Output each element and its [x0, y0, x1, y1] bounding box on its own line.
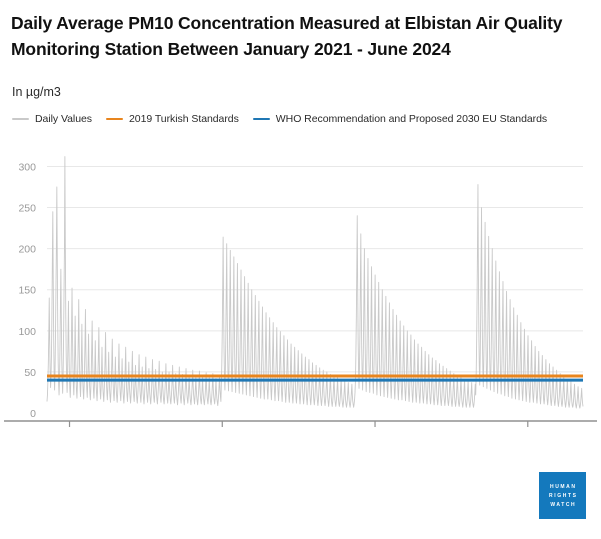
y-axis-tick-label: 150	[18, 285, 36, 297]
y-axis-tick-label: 200	[18, 244, 36, 256]
y-axis-tick-label: 300	[18, 161, 36, 173]
legend-swatch-turkish-standards	[106, 118, 123, 121]
y-axis-tick-label: 50	[24, 367, 36, 379]
chart-plot-area: 0501001502002503002021202220232024	[0, 132, 601, 432]
hrw-logo-line-3: WATCH	[549, 502, 577, 508]
y-axis-tick-label: 250	[18, 203, 36, 215]
legend-item-who-standards[interactable]: WHO Recommendation and Proposed 2030 EU …	[253, 113, 547, 125]
hrw-logo-line-1: HUMAN	[548, 484, 576, 490]
legend-label-turkish-standards: 2019 Turkish Standards	[129, 113, 239, 125]
hrw-logo-line-2: RIGHTS	[547, 493, 577, 499]
chart-page: Daily Average PM10 Concentration Measure…	[0, 0, 601, 539]
legend-label-daily-values: Daily Values	[35, 113, 92, 125]
axis-units-label: In µg/m3	[12, 85, 61, 99]
page-title: Daily Average PM10 Concentration Measure…	[11, 10, 591, 62]
legend-swatch-daily-values	[12, 118, 29, 121]
daily-values-line	[47, 157, 583, 409]
y-axis-tick-label: 0	[30, 408, 36, 420]
y-axis-tick-label: 100	[18, 326, 36, 338]
legend-label-who-standards: WHO Recommendation and Proposed 2030 EU …	[276, 113, 547, 125]
legend-swatch-who-standards	[253, 118, 270, 121]
hrw-logo: HUMAN RIGHTS WATCH	[539, 472, 586, 519]
chart-legend: Daily Values 2019 Turkish Standards WHO …	[12, 112, 561, 126]
pm10-time-series-chart: 0501001502002503002021202220232024	[0, 132, 601, 432]
legend-item-daily-values[interactable]: Daily Values	[12, 113, 92, 125]
legend-item-turkish-standards[interactable]: 2019 Turkish Standards	[106, 113, 239, 125]
